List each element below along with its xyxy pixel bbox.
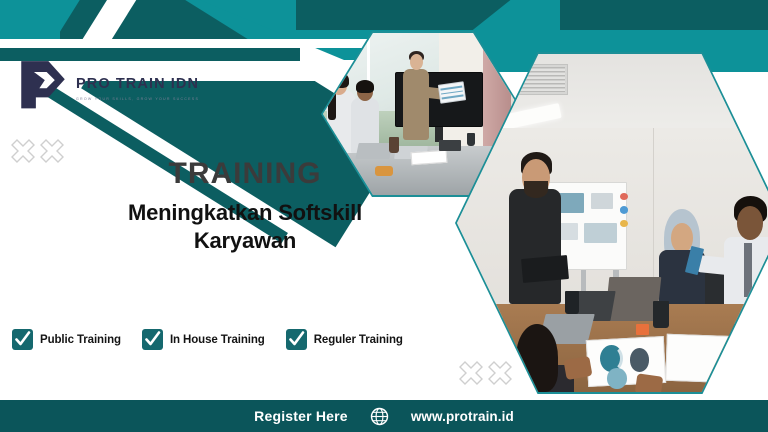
x-marks-decoration-bottom <box>458 360 513 386</box>
checkbox-checked-icon[interactable] <box>12 329 33 350</box>
brand-tagline: GROW YOUR SKILLS, GROW YOUR SUCCESS <box>76 97 199 101</box>
x-mark-icon <box>487 360 513 386</box>
training-type-label: Public Training <box>40 334 121 346</box>
training-type-label: Reguler Training <box>314 334 403 346</box>
x-mark-icon <box>458 360 484 386</box>
globe-icon <box>370 407 389 426</box>
x-mark-icon <box>39 138 65 164</box>
x-marks-decoration-left <box>10 138 65 164</box>
page-title: Meningkatkan Softskill Karyawan <box>95 199 395 255</box>
page-title-line-1: Meningkatkan Softskill <box>128 200 362 225</box>
headline-block: TRAINING Meningkatkan Softskill Karyawan <box>95 158 395 255</box>
training-type-public[interactable]: Public Training <box>12 329 121 350</box>
checkbox-checked-icon[interactable] <box>286 329 307 350</box>
band-mask-left <box>0 0 60 39</box>
training-flyer: PRO TRAIN IDN GROW YOUR SKILLS, GROW YOU… <box>0 0 768 432</box>
top-band-right-dark <box>560 0 768 30</box>
brand-text-block: PRO TRAIN IDN GROW YOUR SKILLS, GROW YOU… <box>76 61 199 101</box>
checkbox-checked-icon[interactable] <box>142 329 163 350</box>
training-type-label: In House Training <box>170 334 265 346</box>
register-here-cta[interactable]: Register Here <box>254 408 348 424</box>
page-title-line-2: Karyawan <box>194 228 296 253</box>
page-title-kicker: TRAINING <box>95 158 395 190</box>
x-mark-icon <box>10 138 36 164</box>
training-type-list: Public Training In House Training Regule… <box>12 329 403 350</box>
band-white-strip <box>0 39 420 48</box>
training-type-in-house[interactable]: In House Training <box>142 329 265 350</box>
brand-name: PRO TRAIN IDN <box>76 76 199 92</box>
brand-logo[interactable]: PRO TRAIN IDN GROW YOUR SKILLS, GROW YOU… <box>14 52 199 110</box>
training-type-reguler[interactable]: Reguler Training <box>286 329 403 350</box>
website-url[interactable]: www.protrain.id <box>411 409 514 424</box>
footer-bar: Register Here www.protrain.id <box>0 400 768 432</box>
protrain-arrow-logo-icon <box>14 52 72 110</box>
